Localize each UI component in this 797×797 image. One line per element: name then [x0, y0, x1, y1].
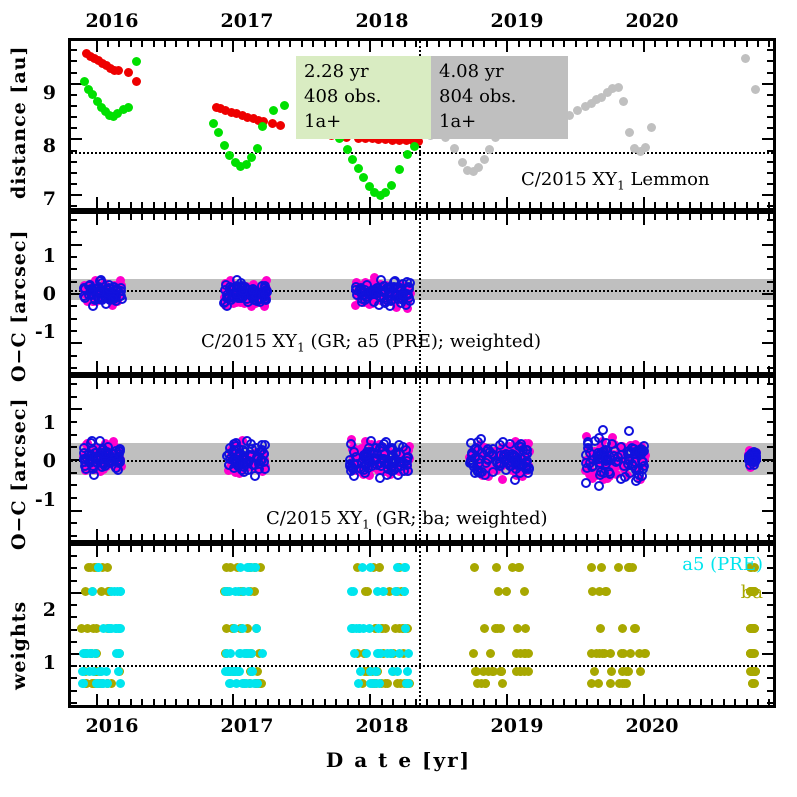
- xtick-2019: 2019: [477, 715, 557, 737]
- oc-ba-annotation: C/2015 XY1 (GR; ba; weighted): [266, 508, 548, 532]
- full-arc-line-1: 4.08 yr: [439, 60, 560, 85]
- distance-plot-area: 2.28 yr 408 obs. 1a+ 4.08 yr 804 obs. 1a…: [71, 41, 773, 208]
- oc-a5-annotation: C/2015 XY1 (GR; a5 (PRE); weighted): [201, 331, 541, 355]
- top-xtick-2018: 2018: [342, 10, 422, 32]
- legend-a5-pre: a5 (PRE): [682, 554, 763, 575]
- panel2-ytick-0: 0: [28, 283, 56, 305]
- oc-ba-rms-band: [71, 443, 773, 475]
- oc-a5-annotation-subscript: 1: [297, 341, 305, 355]
- oc-ba-annotation-subscript: 1: [362, 518, 370, 532]
- panel2-ytick-neg1: -1: [18, 321, 56, 343]
- panel1-ytick-9: 9: [28, 82, 56, 104]
- weights-unity-line: [71, 665, 773, 667]
- pre-arc-line-3: 1a+: [304, 110, 425, 135]
- distance-panel: 2.28 yr 408 obs. 1a+ 4.08 yr 804 obs. 1a…: [68, 38, 776, 211]
- panel3-ytick-1: 1: [28, 412, 56, 434]
- panel4-ytick-2: 2: [28, 599, 56, 621]
- panel3-ytick-neg1: -1: [18, 489, 56, 511]
- oc-ba-zero-line: [71, 460, 773, 462]
- xtick-2018: 2018: [342, 715, 422, 737]
- top-xtick-2016: 2016: [72, 10, 152, 32]
- weights-panel: a5 (PRE) ba: [68, 543, 776, 708]
- full-arc-line-3: 1a+: [439, 110, 560, 135]
- xtick-2016: 2016: [72, 715, 152, 737]
- oc-a5-zero-line: [71, 290, 773, 292]
- figure-canvas: 2016 2017 2018 2019 2020 distance [au] 9…: [0, 0, 797, 797]
- comet-name-annotation: C/2015 XY1 Lemmon: [521, 169, 710, 193]
- xtick-2017: 2017: [207, 715, 287, 737]
- x-axis-label: D a t e [yr]: [0, 748, 797, 772]
- pre-arc-line-2: 408 obs.: [304, 85, 425, 110]
- oc-ba-panel: C/2015 XY1 (GR; ba; weighted): [68, 375, 776, 543]
- oc-ba-plot-area: C/2015 XY1 (GR; ba; weighted): [71, 378, 773, 540]
- panel1-ytick-7: 7: [28, 188, 56, 210]
- panel3-ytick-0: 0: [28, 450, 56, 472]
- pre-arc-line-1: 2.28 yr: [304, 60, 425, 85]
- distance-reference-line: [71, 152, 773, 154]
- panel1-ylabel: distance [au]: [8, 42, 32, 202]
- panel1-ytick-8: 8: [28, 135, 56, 157]
- comet-name-subscript: 1: [617, 179, 625, 193]
- pre-arc-box: 2.28 yr 408 obs. 1a+: [296, 56, 433, 139]
- full-arc-box: 4.08 yr 804 obs. 1a+: [431, 56, 568, 139]
- arc-split-line-p4: [419, 546, 421, 705]
- xtick-2020: 2020: [612, 715, 692, 737]
- oc-a5-plot-area: C/2015 XY1 (GR; a5 (PRE); weighted): [71, 214, 773, 372]
- weights-plot-area: a5 (PRE) ba: [71, 546, 773, 705]
- top-xtick-2019: 2019: [477, 10, 557, 32]
- oc-a5-panel: C/2015 XY1 (GR; a5 (PRE); weighted): [68, 211, 776, 375]
- legend-ba: ba: [741, 582, 763, 603]
- panel4-ytick-1: 1: [28, 652, 56, 674]
- top-xtick-2017: 2017: [207, 10, 287, 32]
- top-xtick-2020: 2020: [612, 10, 692, 32]
- panel2-ytick-1: 1: [28, 245, 56, 267]
- full-arc-line-2: 804 obs.: [439, 85, 560, 110]
